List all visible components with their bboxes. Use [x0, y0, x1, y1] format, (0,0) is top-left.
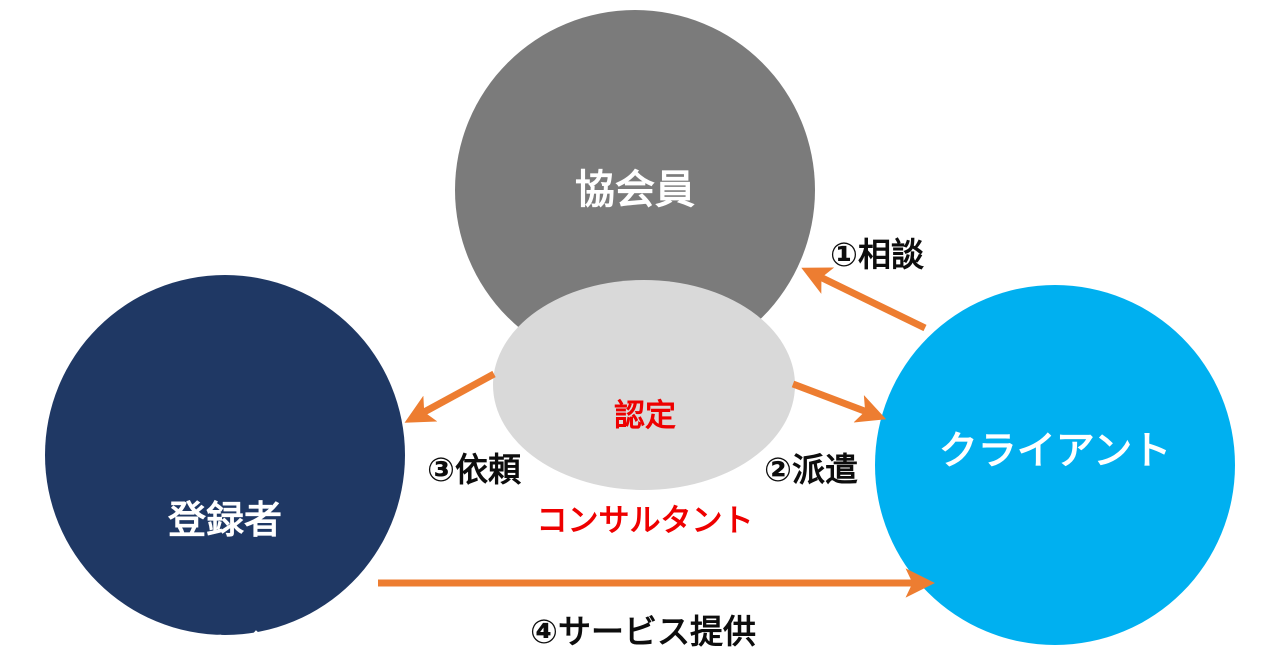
flow-arrow-2[interactable] [793, 384, 875, 415]
flow-arrow-3[interactable] [415, 374, 494, 417]
diagram-canvas: 協会員 認定 コンサルタント 登録者 （クリエイター） クライアント ①相談 ②… [0, 0, 1279, 650]
flow-arrow-1[interactable] [812, 273, 925, 328]
flow-label-service-provision: ④サービス提供 [530, 605, 756, 650]
flow-label-request: ③依頼 [427, 443, 521, 491]
node-registrant-shape[interactable] [45, 275, 405, 635]
flow-label-consultation: ①相談 [830, 228, 924, 276]
flow-label-dispatch: ②派遣 [764, 443, 858, 491]
node-client-shape[interactable] [875, 285, 1235, 645]
node-consultant-shape[interactable] [493, 280, 795, 490]
diagram-shapes [0, 0, 1279, 650]
